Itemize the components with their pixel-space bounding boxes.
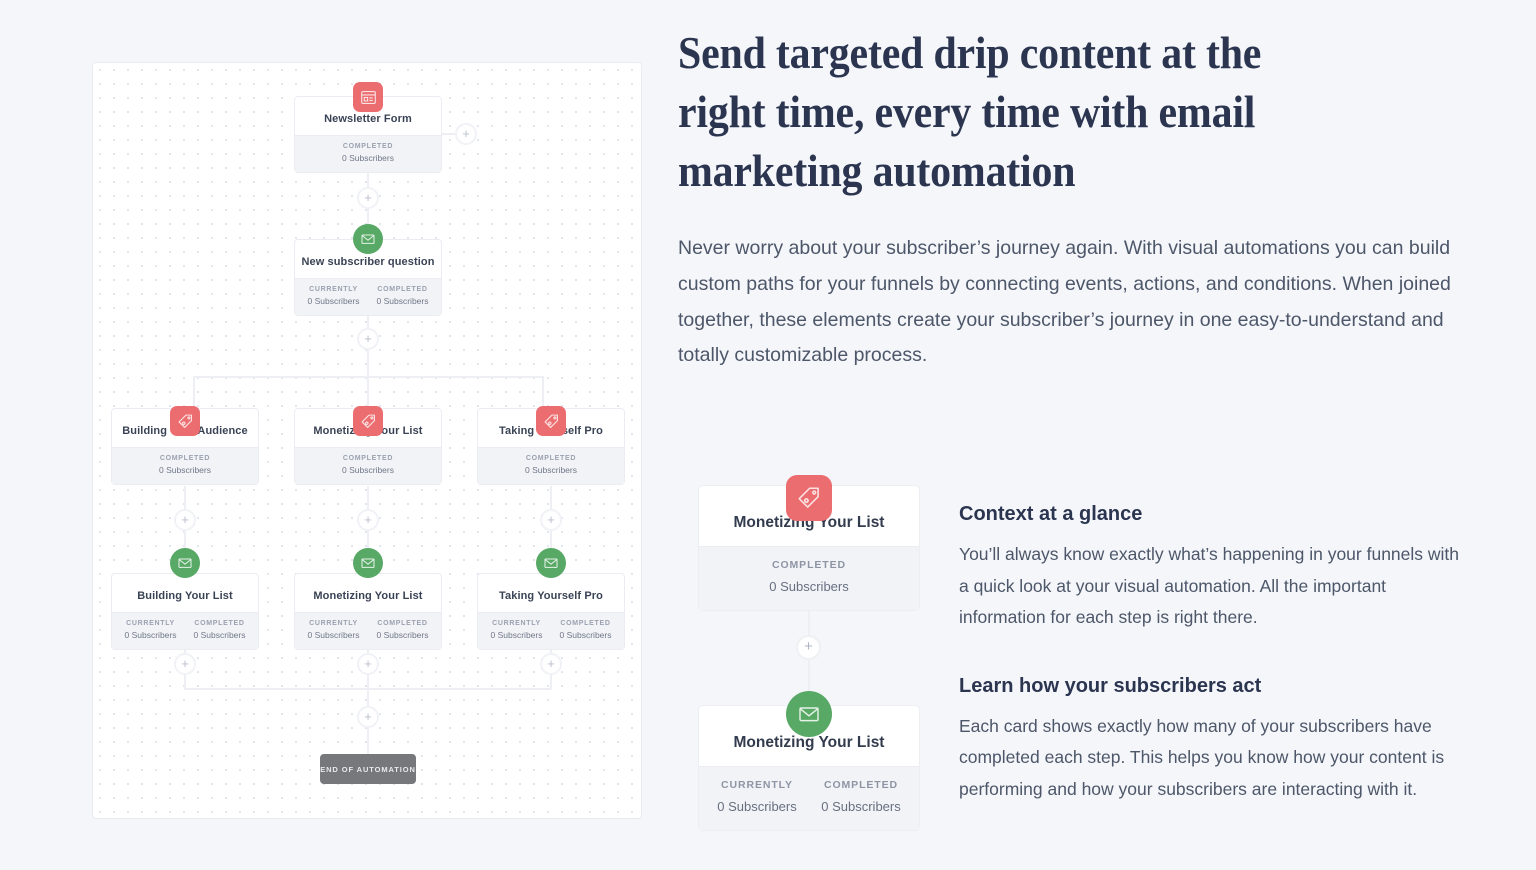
add-step-button[interactable]	[455, 123, 477, 145]
stat-completed: COMPLETED 0 Subscribers	[368, 286, 437, 306]
connector-wire	[184, 675, 186, 689]
stat-value: 0 Subscribers	[185, 630, 254, 640]
add-step-button[interactable]	[357, 187, 379, 209]
add-step-button[interactable]	[796, 635, 821, 660]
feature-title: Context at a glance	[959, 503, 1459, 526]
node-stats: CURRENTLY 0 Subscribers COMPLETED 0 Subs…	[295, 612, 441, 649]
node-stats: CURRENTLY 0 Subscribers COMPLETED 0 Subs…	[112, 612, 258, 649]
stat-label: COMPLETED	[809, 779, 913, 791]
add-step-button[interactable]	[540, 653, 562, 675]
example-card-stats: CURRENTLY 0 Subscribers COMPLETED 0 Subs…	[699, 766, 919, 830]
stat-value: 0 Subscribers	[368, 630, 437, 640]
stat-currently: CURRENTLY 0 Subscribers	[482, 620, 551, 640]
feature-title: Learn how your subscribers act	[959, 675, 1459, 698]
tag-icon	[536, 406, 566, 436]
stat-completed: COMPLETED 0 Subscribers	[551, 620, 620, 640]
node-title: Monetizing Your List	[295, 574, 441, 612]
example-card-stack: Monetizing Your List COMPLETED 0 Subscri…	[688, 465, 913, 855]
stat-currently: CURRENTLY 0 Subscribers	[299, 286, 368, 306]
automation-node-taking-yourself-pro-email[interactable]: Taking Yourself Pro CURRENTLY 0 Subscrib…	[477, 573, 625, 650]
stat-label: COMPLETED	[368, 286, 437, 293]
add-step-button[interactable]	[540, 509, 562, 531]
connector-wire	[367, 350, 369, 377]
connector-wire	[193, 376, 195, 408]
stat-value: 0 Subscribers	[368, 296, 437, 306]
stat-completed: COMPLETED 0 Subscribers	[809, 779, 913, 814]
stat-currently: CURRENTLY 0 Subscribers	[299, 620, 368, 640]
stat-label: CURRENTLY	[116, 620, 185, 627]
feature-body: You’ll always know exactly what’s happen…	[959, 539, 1459, 634]
stat-completed: COMPLETED 0 Subscribers	[299, 143, 437, 163]
stat-completed: COMPLETED 0 Subscribers	[368, 620, 437, 640]
stat-value: 0 Subscribers	[116, 465, 254, 475]
add-step-button[interactable]	[357, 653, 379, 675]
stat-completed: COMPLETED 0 Subscribers	[705, 559, 913, 594]
feature-body: Each card shows exactly how many of your…	[959, 711, 1459, 806]
tag-icon	[786, 475, 832, 521]
node-stats: CURRENTLY 0 Subscribers COMPLETED 0 Subs…	[478, 612, 624, 649]
feature-text-blocks: Context at a glance You’ll always know e…	[959, 503, 1459, 805]
page-title: Send targeted drip content at the right …	[678, 24, 1329, 201]
connector-wire	[367, 376, 369, 408]
add-step-button[interactable]	[174, 509, 196, 531]
stat-value: 0 Subscribers	[299, 296, 368, 306]
stat-completed: COMPLETED 0 Subscribers	[482, 455, 620, 475]
stat-label: COMPLETED	[482, 455, 620, 462]
stat-completed: COMPLETED 0 Subscribers	[185, 620, 254, 640]
example-card-stats: COMPLETED 0 Subscribers	[699, 546, 919, 610]
tag-icon	[353, 406, 383, 436]
tag-icon	[170, 406, 200, 436]
stat-label: COMPLETED	[551, 620, 620, 627]
automation-canvas[interactable]: Newsletter Form COMPLETED 0 Subscribers …	[92, 62, 642, 819]
connector-wire	[542, 376, 544, 408]
node-stats: COMPLETED 0 Subscribers	[295, 447, 441, 484]
stat-value: 0 Subscribers	[482, 630, 551, 640]
stat-label: COMPLETED	[368, 620, 437, 627]
form-icon	[353, 82, 383, 112]
envelope-icon	[536, 548, 566, 578]
stat-value: 0 Subscribers	[116, 630, 185, 640]
stat-value: 0 Subscribers	[482, 465, 620, 475]
add-step-button[interactable]	[357, 706, 379, 728]
envelope-icon	[353, 224, 383, 254]
stat-completed: COMPLETED 0 Subscribers	[299, 455, 437, 475]
envelope-icon	[353, 548, 383, 578]
connector-wire	[550, 675, 552, 689]
add-step-button[interactable]	[357, 328, 379, 350]
stat-label: COMPLETED	[116, 455, 254, 462]
stat-value: 0 Subscribers	[299, 465, 437, 475]
stat-value: 0 Subscribers	[705, 579, 913, 594]
node-title: Taking Yourself Pro	[478, 574, 624, 612]
stat-value: 0 Subscribers	[299, 630, 368, 640]
end-of-automation-button[interactable]: END OF AUTOMATION	[320, 754, 416, 784]
hero-description: Never worry about your subscriber’s jour…	[678, 231, 1453, 374]
stat-label: CURRENTLY	[705, 779, 809, 791]
stat-label: COMPLETED	[299, 143, 437, 150]
stat-completed: COMPLETED 0 Subscribers	[116, 455, 254, 475]
add-step-button[interactable]	[174, 653, 196, 675]
stat-currently: CURRENTLY 0 Subscribers	[705, 779, 809, 814]
content-column: Send targeted drip content at the right …	[678, 0, 1468, 870]
node-stats: COMPLETED 0 Subscribers	[112, 447, 258, 484]
stat-value: 0 Subscribers	[809, 799, 913, 814]
stat-label: CURRENTLY	[482, 620, 551, 627]
stat-label: COMPLETED	[185, 620, 254, 627]
stat-label: COMPLETED	[705, 559, 913, 571]
feature-block-context: Context at a glance You’ll always know e…	[959, 503, 1459, 634]
envelope-icon	[170, 548, 200, 578]
stat-value: 0 Subscribers	[551, 630, 620, 640]
stat-value: 0 Subscribers	[705, 799, 809, 814]
stat-label: CURRENTLY	[299, 286, 368, 293]
stat-currently: CURRENTLY 0 Subscribers	[116, 620, 185, 640]
node-stats: COMPLETED 0 Subscribers	[295, 135, 441, 172]
envelope-icon	[786, 691, 832, 737]
stat-value: 0 Subscribers	[299, 153, 437, 163]
node-stats: CURRENTLY 0 Subscribers COMPLETED 0 Subs…	[295, 278, 441, 315]
connector-wire	[808, 660, 810, 692]
node-title: Building Your List	[112, 574, 258, 612]
stat-label: CURRENTLY	[299, 620, 368, 627]
node-stats: COMPLETED 0 Subscribers	[478, 447, 624, 484]
automation-node-monetizing-your-list-email[interactable]: Monetizing Your List CURRENTLY 0 Subscri…	[294, 573, 442, 650]
feature-block-learn: Learn how your subscribers act Each card…	[959, 675, 1459, 806]
add-step-button[interactable]	[357, 509, 379, 531]
stat-label: COMPLETED	[299, 455, 437, 462]
automation-node-building-your-list[interactable]: Building Your List CURRENTLY 0 Subscribe…	[111, 573, 259, 650]
